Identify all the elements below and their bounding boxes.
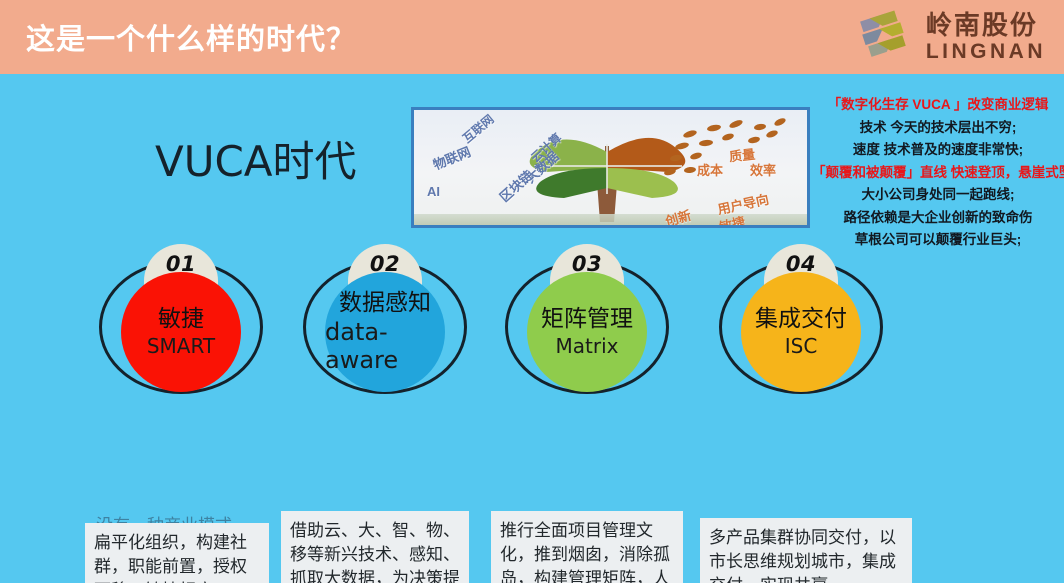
pillar-disc[interactable]: 矩阵管理Matrix <box>527 272 647 392</box>
pillar-label-cn: 敏捷 <box>158 306 204 331</box>
tree-illustration: 互联网物联网AI云计算大数据区块链质量成本效率用户导向创新敏捷 <box>411 107 810 228</box>
right-panel-line-5: 大小公司身处同一起跑线; <box>812 188 1064 202</box>
brand-text: 岭南股份 LINGNAN <box>926 12 1046 62</box>
page-header: 这是一个什么样的时代？ 岭南股份 LINGNAN <box>0 0 1064 74</box>
pillar-disc[interactable]: 集成交付ISC <box>741 272 861 392</box>
pillar-label-en: data-aware <box>325 318 445 374</box>
pillar-caption-04: 多产品集群协同交付，以市长思维规划城市，集成交付，实现共赢 <box>700 518 912 583</box>
right-panel-line-7: 草根公司可以颠覆行业巨头; <box>812 233 1064 247</box>
right-panel-line-4: 「颠覆和被颠覆」直线 快速登顶，悬崖式坠落 <box>812 166 1064 180</box>
pillar-disc[interactable]: 数据感知data-aware <box>325 272 445 392</box>
brand-name-en: LINGNAN <box>926 41 1046 62</box>
pillar-02[interactable]: 02数据感知data-aware <box>300 244 470 394</box>
pillar-label-en: Matrix <box>556 334 619 358</box>
pillar-label-cn: 集成交付 <box>755 306 847 331</box>
right-panel-line-1: 「数字化生存 VUCA 」改变商业逻辑 <box>812 98 1064 112</box>
brand-logo: 岭南股份 LINGNAN <box>852 7 1046 67</box>
tree-label-value: 效率 <box>750 160 776 179</box>
pillar-caption-03: 推行全面项目管理文化，推到烟囱，消除孤岛，构建管理矩阵，人人具有经营思维 <box>491 511 683 583</box>
pillar-label-cn: 数据感知 <box>339 290 431 315</box>
vuca-heading: VUCA时代 <box>155 128 357 189</box>
pillar-caption-02: 借助云、大、智、物、移等新兴技术、感知、抓取大数据，为决策提供多维数据支撑 <box>281 511 469 583</box>
pillar-label-cn: 矩阵管理 <box>541 306 633 331</box>
slide-stage: VUCA时代 <box>0 74 1064 583</box>
page-title: 这是一个什么样的时代？ <box>26 16 356 58</box>
pillar-label-en: SMART <box>147 334 215 358</box>
right-panel-line-6: 路径依赖是大企业创新的致命伤 <box>812 211 1064 225</box>
lingnan-ribbon-logo-icon <box>852 7 916 67</box>
pillar-caption-01: 扁平化组织，构建社群，职能前置，授权下移，敏捷相应 <box>85 523 269 583</box>
tree-label-value: 成本 <box>697 160 723 179</box>
tree-label-tech: AI <box>427 184 440 199</box>
pillar-label-en: ISC <box>785 334 818 358</box>
right-bullet-panel: 「数字化生存 VUCA 」改变商业逻辑技术 今天的技术层出不穷;速度 技术普及的… <box>812 98 1064 256</box>
pillar-04[interactable]: 04集成交付ISC <box>716 244 886 394</box>
pillar-01[interactable]: 01敏捷SMART <box>96 244 266 394</box>
pillar-disc[interactable]: 敏捷SMART <box>121 272 241 392</box>
brand-name-cn: 岭南股份 <box>926 12 1046 38</box>
right-panel-line-2: 技术 今天的技术层出不穷; <box>812 121 1064 135</box>
pillar-03[interactable]: 03矩阵管理Matrix <box>502 244 672 394</box>
grass-strip <box>414 214 807 225</box>
right-panel-line-3: 速度 技术普及的速度非常快; <box>812 143 1064 157</box>
